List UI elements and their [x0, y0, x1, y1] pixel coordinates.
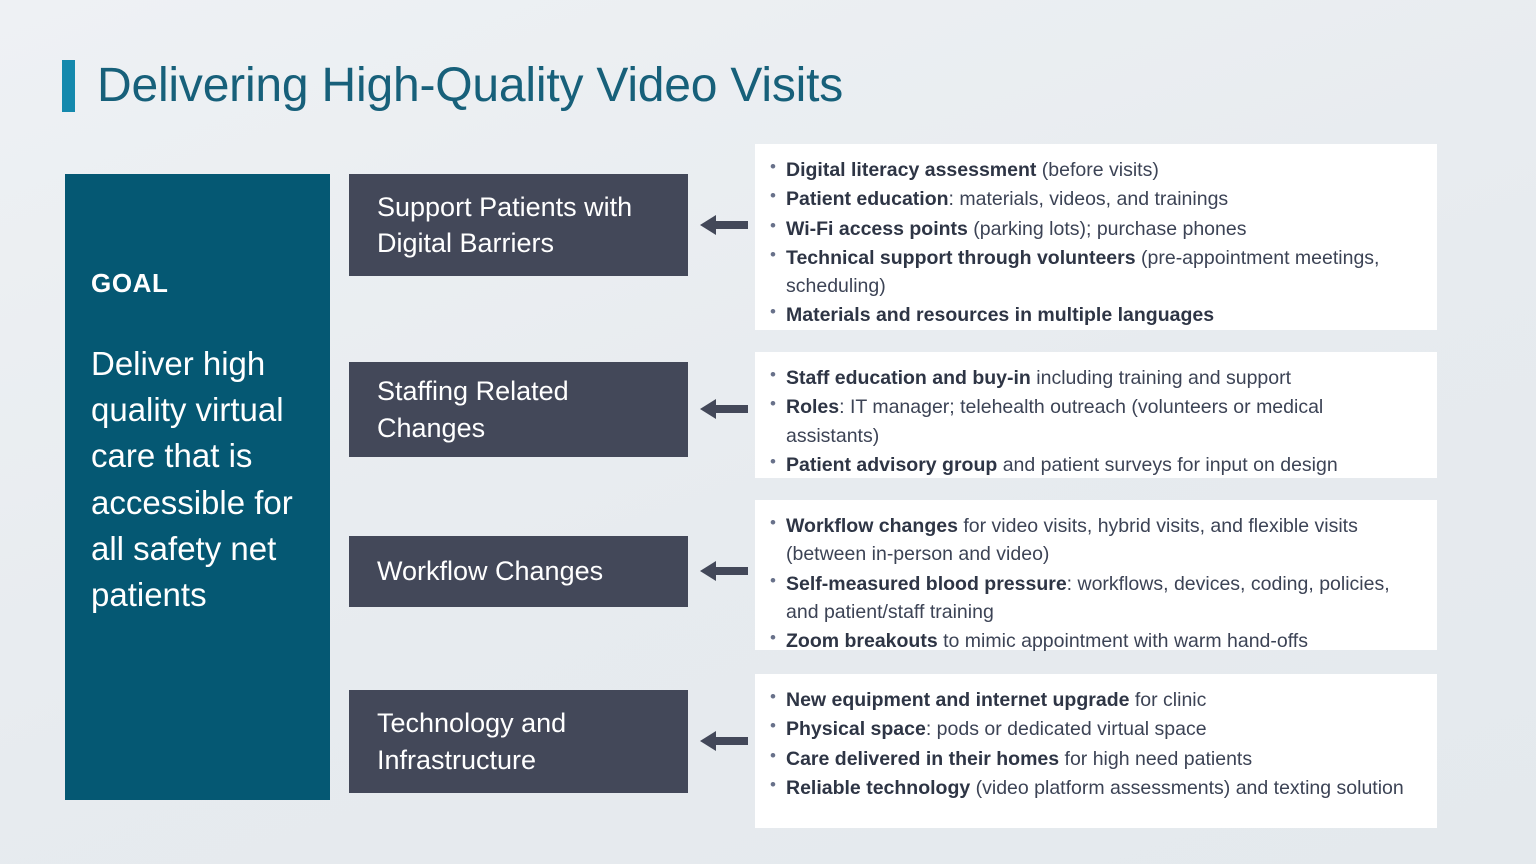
bullet-bold-text: Workflow changes [786, 515, 958, 537]
category-box-technology-and-infrastructure[interactable]: Technology and Infrastructure [349, 690, 688, 793]
detail-panel-staffing-related-changes: Staff education and buy-in including tra… [755, 352, 1437, 478]
slide-canvas: Delivering High-Quality Video Visits GOA… [0, 0, 1536, 864]
bullet-bold-text: Patient education [786, 188, 949, 210]
bullet-list: New equipment and internet upgrade for c… [769, 686, 1419, 802]
bullet-bold-text: Wi-Fi access points [786, 218, 968, 240]
bullet-item: Roles: IT manager; telehealth outreach (… [769, 393, 1419, 450]
bullet-bold-text: Digital literacy assessment [786, 159, 1036, 181]
category-label: Workflow Changes [377, 553, 603, 589]
bullet-bold-text: Reliable technology [786, 777, 970, 799]
bullet-item: Workflow changes for video visits, hybri… [769, 512, 1419, 569]
category-box-workflow-changes[interactable]: Workflow Changes [349, 536, 688, 607]
bullet-bold-text: New equipment and internet upgrade [786, 689, 1129, 711]
goal-statement: Deliver high quality virtual care that i… [91, 341, 304, 618]
arrow-left-icon [700, 396, 748, 422]
goal-box: GOAL Deliver high quality virtual care t… [65, 174, 330, 800]
detail-panel-support-patients: Digital literacy assessment (before visi… [755, 144, 1437, 330]
bullet-rest-text: : pods or dedicated virtual space [926, 718, 1207, 740]
bullet-bold-text: Physical space [786, 718, 926, 740]
bullet-item: Zoom breakouts to mimic appointment with… [769, 627, 1419, 655]
bullet-bold-text: Materials and resources in multiple lang… [786, 304, 1214, 326]
category-box-support-patients[interactable]: Support Patients with Digital Barriers [349, 174, 688, 276]
bullet-bold-text: Self-measured blood pressure [786, 573, 1067, 595]
detail-panel-workflow-changes: Workflow changes for video visits, hybri… [755, 500, 1437, 650]
bullet-rest-text: for high need patients [1059, 748, 1252, 770]
bullet-bold-text: Patient advisory group [786, 454, 997, 476]
bullet-rest-text: to mimic appointment with warm hand-offs [938, 630, 1308, 652]
bullet-rest-text: : IT manager; telehealth outreach (volun… [786, 396, 1323, 446]
bullet-rest-text: : materials, videos, and trainings [949, 188, 1229, 210]
bullet-bold-text: Zoom breakouts [786, 630, 938, 652]
category-label: Support Patients with Digital Barriers [377, 189, 660, 261]
page-title: Delivering High-Quality Video Visits [97, 58, 843, 113]
detail-panel-technology-and-infrastructure: New equipment and internet upgrade for c… [755, 674, 1437, 828]
bullet-rest-text: (parking lots); purchase phones [968, 218, 1247, 240]
bullet-bold-text: Staff education and buy-in [786, 367, 1031, 389]
arrow-left-icon [700, 212, 748, 238]
bullet-item: Reliable technology (video platform asse… [769, 774, 1419, 802]
bullet-item: New equipment and internet upgrade for c… [769, 686, 1419, 714]
bullet-rest-text: (video platform assessments) and texting… [970, 777, 1404, 799]
goal-label: GOAL [91, 268, 304, 299]
bullet-bold-text: Roles [786, 396, 839, 418]
bullet-list: Staff education and buy-in including tra… [769, 364, 1419, 479]
bullet-item: Digital literacy assessment (before visi… [769, 156, 1419, 184]
bullet-rest-text: including training and support [1031, 367, 1291, 389]
bullet-rest-text: (before visits) [1036, 159, 1158, 181]
bullet-item: Patient education: materials, videos, an… [769, 185, 1419, 213]
bullet-item: Physical space: pods or dedicated virtua… [769, 715, 1419, 743]
bullet-item: Wi-Fi access points (parking lots); purc… [769, 215, 1419, 243]
bullet-list: Workflow changes for video visits, hybri… [769, 512, 1419, 655]
category-label: Technology and Infrastructure [377, 705, 660, 777]
arrow-left-icon [700, 558, 748, 584]
bullet-rest-text: for clinic [1129, 689, 1206, 711]
bullet-item: Staff education and buy-in including tra… [769, 364, 1419, 392]
bullet-list: Digital literacy assessment (before visi… [769, 156, 1419, 330]
bullet-bold-text: Technical support through volunteers [786, 247, 1136, 269]
bullet-item: Technical support through volunteers (pr… [769, 244, 1419, 301]
bullet-bold-text: Care delivered in their homes [786, 748, 1059, 770]
arrow-left-icon [700, 728, 748, 754]
bullet-item: Materials and resources in multiple lang… [769, 301, 1419, 329]
bullet-item: Care delivered in their homes for high n… [769, 745, 1419, 773]
bullet-item: Patient advisory group and patient surve… [769, 451, 1419, 479]
category-box-staffing-related-changes[interactable]: Staffing Related Changes [349, 362, 688, 457]
title-accent-bar [62, 60, 75, 112]
bullet-item: Self-measured blood pressure: workflows,… [769, 570, 1419, 627]
bullet-rest-text: and patient surveys for input on design [997, 454, 1337, 476]
slide-title: Delivering High-Quality Video Visits [62, 58, 843, 113]
category-label: Staffing Related Changes [377, 373, 660, 445]
